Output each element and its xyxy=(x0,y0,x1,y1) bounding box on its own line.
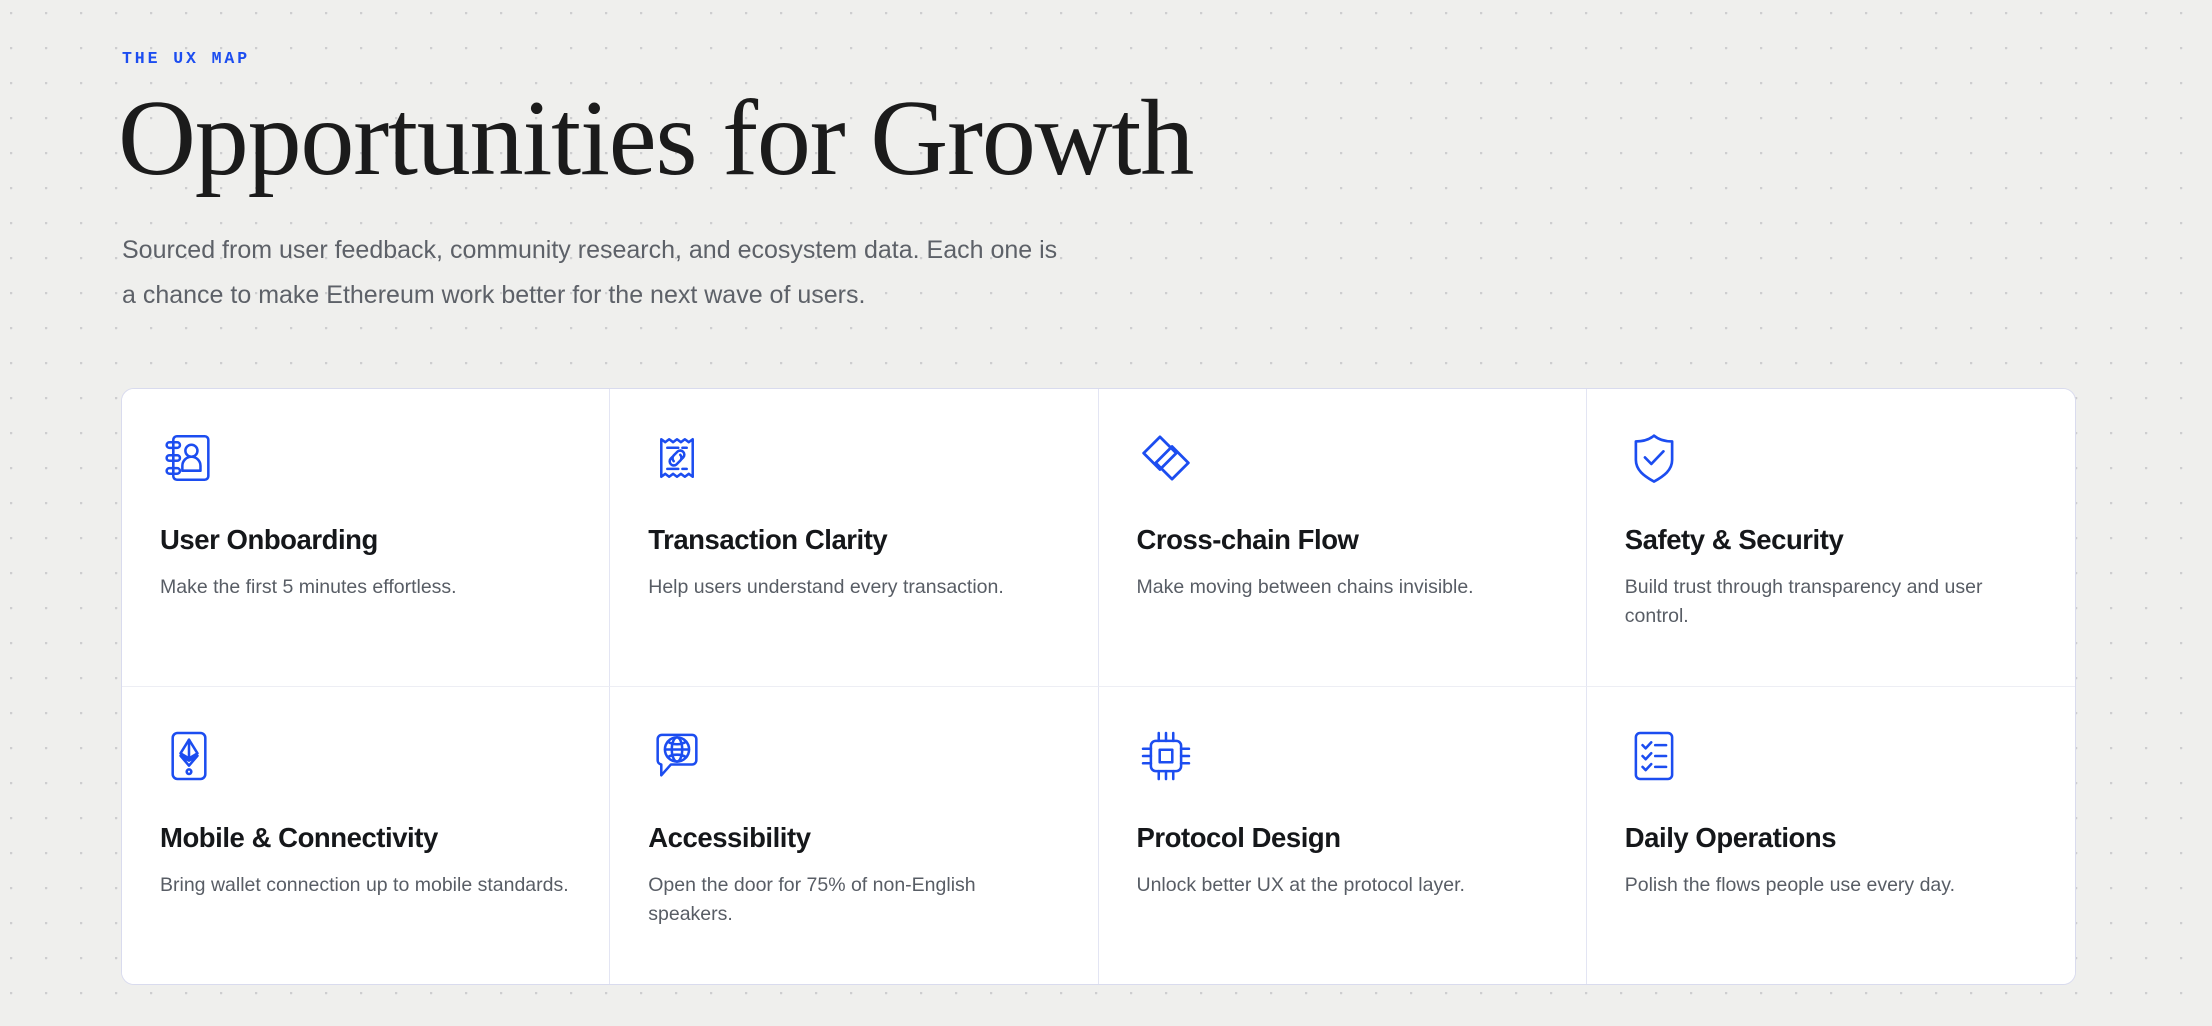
card-description: Unlock better UX at the protocol layer. xyxy=(1137,871,1546,900)
card-description: Help users understand every transaction. xyxy=(648,573,1057,602)
page-subtitle: Sourced from user feedback, community re… xyxy=(122,228,1072,318)
opportunity-card-grid: User Onboarding Make the first 5 minutes… xyxy=(121,388,2076,985)
opportunity-card-user-onboarding[interactable]: User Onboarding Make the first 5 minutes… xyxy=(122,389,610,687)
opportunity-card-cross-chain-flow[interactable]: Cross-chain Flow Make moving between cha… xyxy=(1099,389,1587,687)
page-title: Opportunities for Growth xyxy=(118,83,1193,195)
card-description: Build trust through transparency and use… xyxy=(1625,573,2035,631)
microchip-icon xyxy=(1137,727,1195,785)
card-title: Cross-chain Flow xyxy=(1137,523,1546,556)
card-description: Polish the flows people use every day. xyxy=(1625,871,2035,900)
opportunity-card-protocol-design[interactable]: Protocol Design Unlock better UX at the … xyxy=(1099,687,1587,985)
card-title: User Onboarding xyxy=(160,523,569,556)
receipt-link-icon xyxy=(648,429,706,487)
card-description: Make the first 5 minutes effortless. xyxy=(160,573,569,602)
page-root: THE UX MAP Opportunities for Growth Sour… xyxy=(0,0,2212,1026)
card-description: Bring wallet connection up to mobile sta… xyxy=(160,871,569,900)
opportunity-card-transaction-clarity[interactable]: Transaction Clarity Help users understan… xyxy=(610,389,1098,687)
opportunity-card-daily-operations[interactable]: Daily Operations Polish the flows people… xyxy=(1587,687,2075,985)
card-title: Protocol Design xyxy=(1137,821,1546,854)
card-title: Accessibility xyxy=(648,821,1057,854)
speech-bubble-globe-icon xyxy=(648,727,706,785)
checklist-icon xyxy=(1625,727,1683,785)
card-title: Mobile & Connectivity xyxy=(160,821,569,854)
card-title: Safety & Security xyxy=(1625,523,2035,556)
shield-check-icon xyxy=(1625,429,1683,487)
overlapping-diamonds-icon xyxy=(1137,429,1195,487)
eyebrow-label: THE UX MAP xyxy=(122,51,250,68)
card-description: Open the door for 75% of non-English spe… xyxy=(648,871,1057,929)
contact-book-icon xyxy=(160,429,218,487)
opportunity-card-mobile-connectivity[interactable]: Mobile & Connectivity Bring wallet conne… xyxy=(122,687,610,985)
card-title: Transaction Clarity xyxy=(648,523,1057,556)
mobile-ethereum-icon xyxy=(160,727,218,785)
card-description: Make moving between chains invisible. xyxy=(1137,573,1546,602)
opportunity-card-safety-security[interactable]: Safety & Security Build trust through tr… xyxy=(1587,389,2075,687)
opportunity-card-accessibility[interactable]: Accessibility Open the door for 75% of n… xyxy=(610,687,1098,985)
card-title: Daily Operations xyxy=(1625,821,2035,854)
